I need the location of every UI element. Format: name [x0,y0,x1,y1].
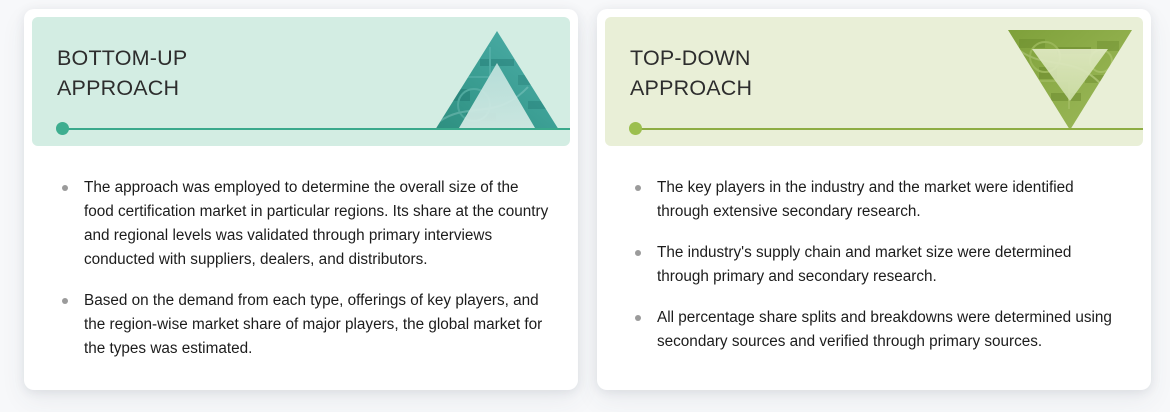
card-top-down-approach: TOP-DOWN APPROACH The key players in the… [597,9,1151,390]
accent-dot [629,122,642,135]
list-item-text: All percentage share splits and breakdow… [657,309,1112,350]
list-item: Based on the demand from each type, offe… [54,289,550,361]
approach-comparison-board: BOTTOM-UP APPROACH The approach was empl… [0,0,1170,412]
list-item: The approach was employed to determine t… [54,176,550,272]
list-item: The key players in the industry and the … [627,176,1123,224]
accent-rule [62,128,570,130]
panel-header-top-down: TOP-DOWN APPROACH [605,17,1143,146]
bullet-point-icon [635,315,641,321]
accent-rule [635,128,1143,130]
card-bottom-up-approach: BOTTOM-UP APPROACH The approach was empl… [24,9,578,390]
panel-header-bottom-up: BOTTOM-UP APPROACH [32,17,570,146]
bullet-point-icon [635,250,641,256]
bullet-list-bottom-up: The approach was employed to determine t… [32,146,570,361]
accent-dot [56,122,69,135]
bullet-point-icon [62,185,68,191]
list-item-text: The industry's supply chain and market s… [657,244,1071,285]
list-item: The industry's supply chain and market s… [627,241,1123,289]
triangle-down-icon [1005,17,1135,146]
card-title-top-down: TOP-DOWN APPROACH [630,43,752,103]
list-item: All percentage share splits and breakdow… [627,306,1123,354]
card-title-bottom-up: BOTTOM-UP APPROACH [57,43,187,103]
bullet-point-icon [62,298,68,304]
list-item-text: The key players in the industry and the … [657,179,1074,220]
list-item-text: The approach was employed to determine t… [84,179,548,268]
triangle-up-icon [432,17,562,146]
bullet-list-top-down: The key players in the industry and the … [605,146,1143,354]
bullet-point-icon [635,185,641,191]
list-item-text: Based on the demand from each type, offe… [84,292,542,357]
